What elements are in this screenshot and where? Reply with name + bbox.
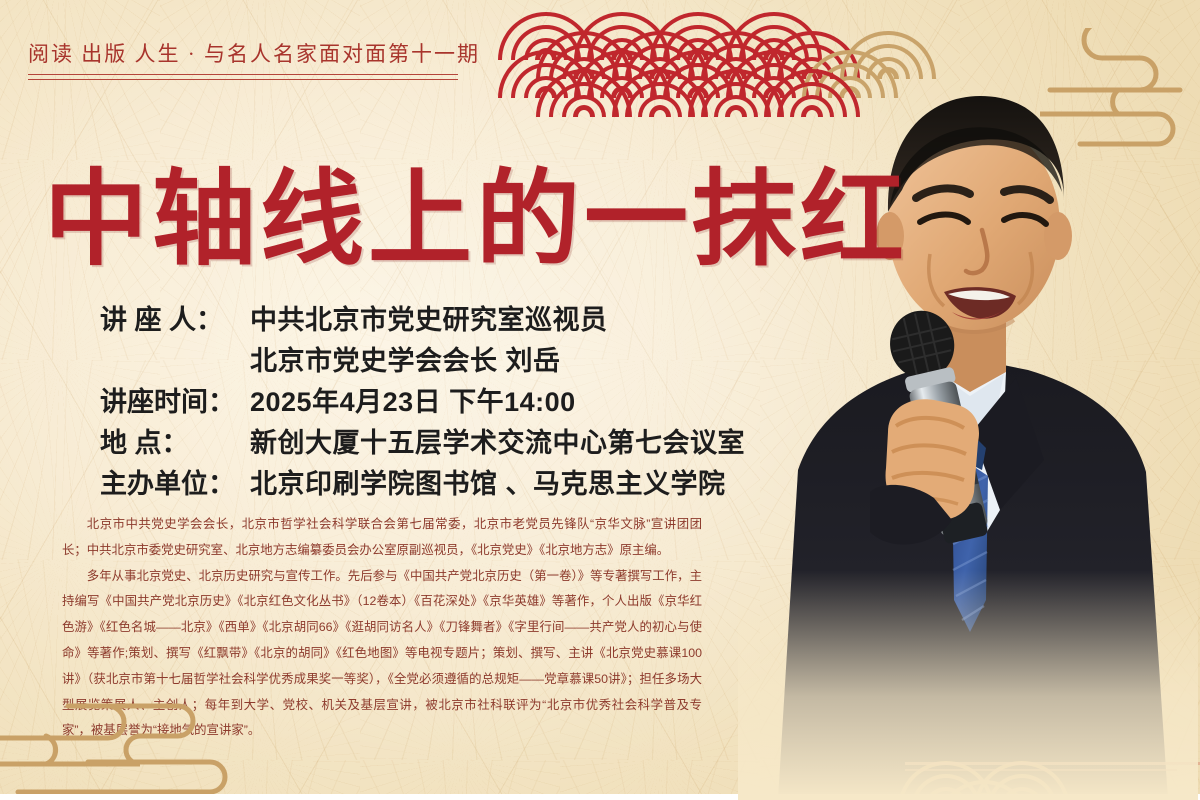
info-label: 地 点： bbox=[100, 423, 250, 464]
bio-paragraph-1: 北京市中共党史学会会长，北京市哲学社会科学联合会第七届常委，北京市老党员先锋队“… bbox=[62, 512, 702, 564]
info-row-speaker: 讲 座 人： 中共北京市党史研究室巡视员 bbox=[100, 300, 745, 341]
info-row-speaker-continued: 讲 座 人： 北京市党史学会会长 刘岳 bbox=[100, 341, 745, 382]
eyebrow-header: 阅读 出版 人生 · 与名人名家面对面第十一期 bbox=[28, 38, 468, 80]
poster-canvas: 阅读 出版 人生 · 与名人名家面对面第十一期 bbox=[0, 0, 1200, 800]
eyebrow-text: 阅读 出版 人生 · 与名人名家面对面第十一期 bbox=[28, 38, 468, 68]
bottom-right-rule-lines bbox=[905, 762, 1200, 771]
info-row-location: 地 点： 新创大厦十五层学术交流中心第七会议室 bbox=[100, 423, 745, 464]
lecture-info-block: 讲 座 人： 中共北京市党史研究室巡视员 讲 座 人： 北京市党史学会会长 刘岳… bbox=[100, 300, 745, 505]
info-value: 北京印刷学院图书馆 、马克思主义学院 bbox=[250, 464, 726, 505]
info-label: 讲 座 人： bbox=[100, 300, 250, 341]
rule-line-secondary bbox=[905, 769, 1177, 771]
info-label: 讲座时间： bbox=[100, 382, 250, 423]
page-title: 中轴线上的一抹红 bbox=[44, 168, 908, 272]
info-value: 中共北京市党史研究室巡视员 bbox=[250, 300, 608, 341]
eyebrow-double-rule bbox=[28, 74, 458, 80]
info-label: 主办单位： bbox=[100, 464, 250, 505]
info-row-organizer: 主办单位： 北京印刷学院图书馆 、马克思主义学院 bbox=[100, 464, 745, 505]
rule-line-primary bbox=[905, 762, 1200, 765]
bottom-white-strip bbox=[0, 794, 1200, 800]
chinese-cloud-icon-bottom-left bbox=[0, 700, 300, 800]
info-value: 2025年4月23日 下午14:00 bbox=[250, 382, 576, 423]
chinese-cloud-icon-top-right bbox=[1040, 28, 1200, 148]
info-row-time: 讲座时间： 2025年4月23日 下午14:00 bbox=[100, 382, 745, 423]
info-value: 新创大厦十五层学术交流中心第七会议室 bbox=[250, 423, 745, 464]
info-value: 北京市党史学会会长 刘岳 bbox=[250, 341, 561, 382]
